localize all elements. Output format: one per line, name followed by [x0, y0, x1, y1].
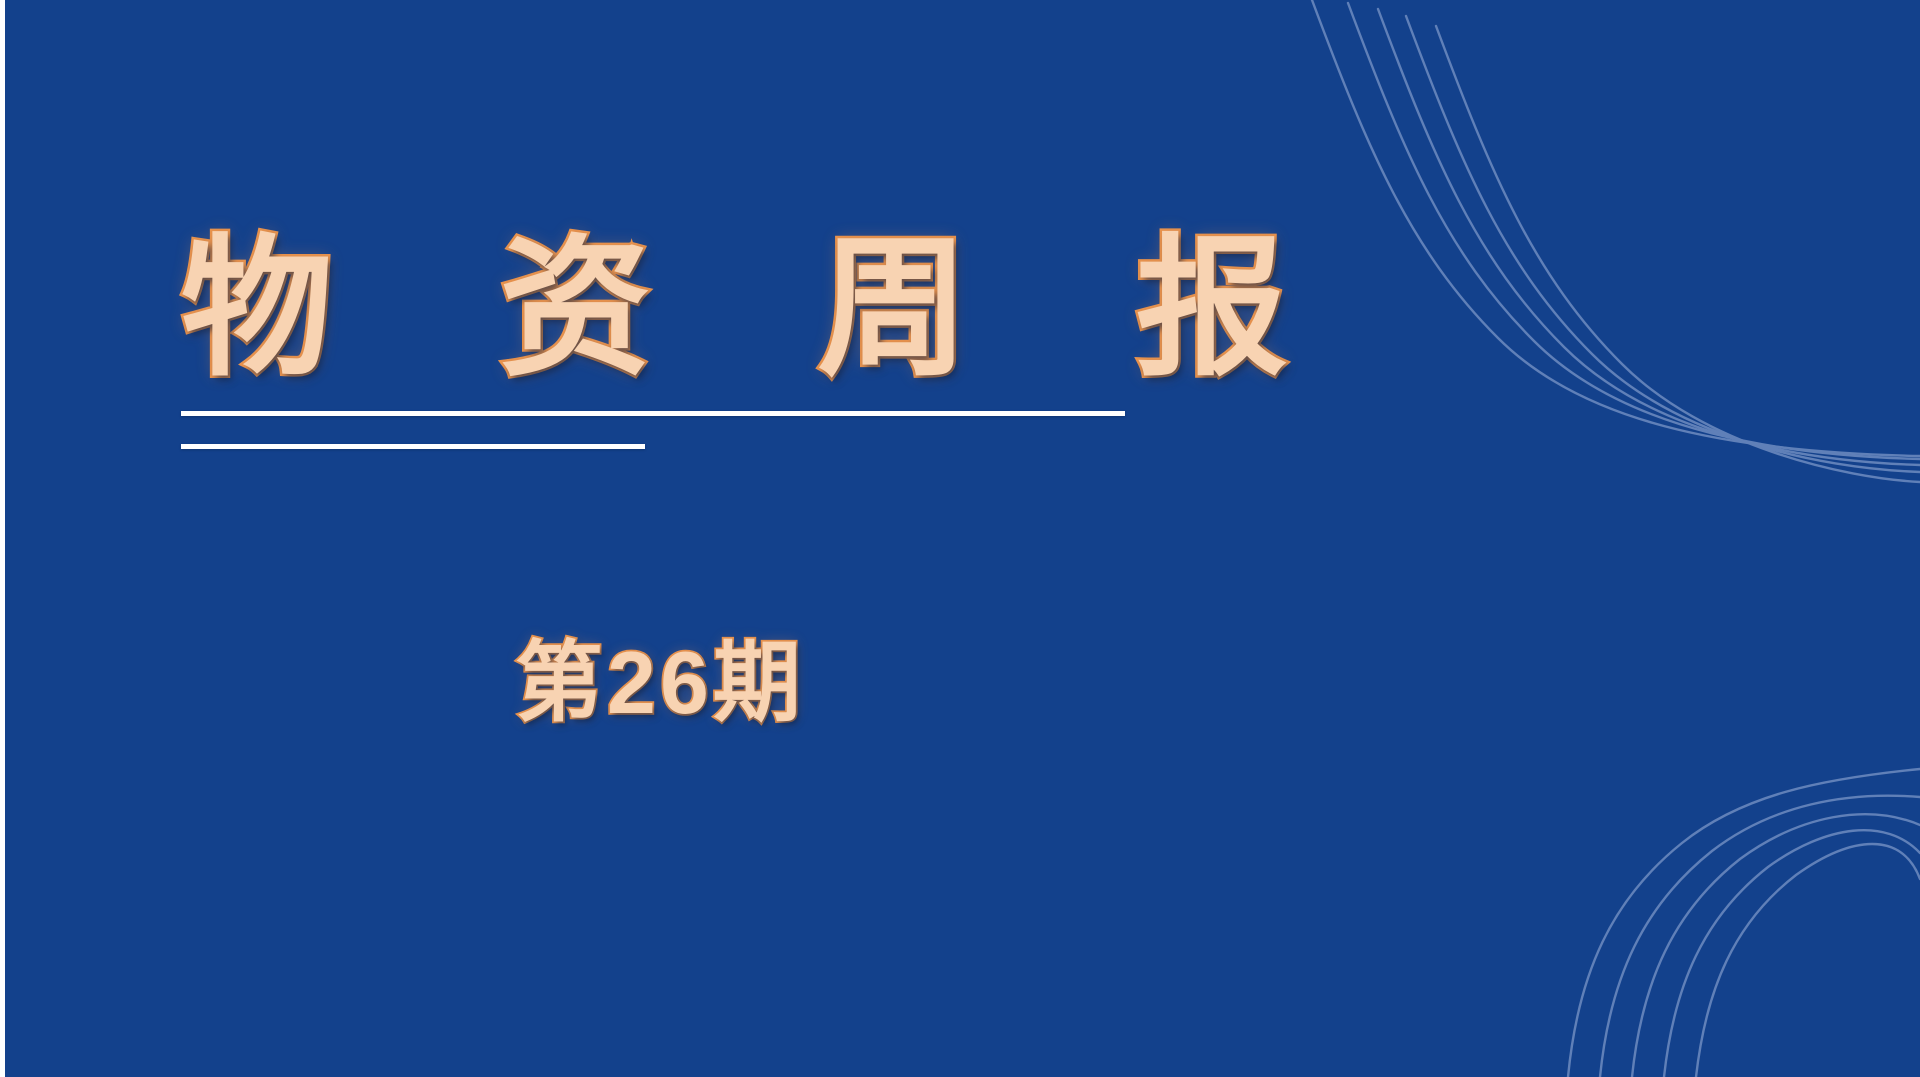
corner-waves-bottom-right-icon: [1260, 687, 1920, 1077]
issue-subtitle: 第26期: [515, 635, 805, 732]
left-edge-strip: [0, 0, 5, 1077]
title-rule-long: [181, 411, 1125, 416]
title-block: 物 资 周 报: [181, 232, 1381, 453]
title-rule-short: [181, 444, 645, 449]
title-slide: 物 资 周 报 第26期: [0, 0, 1920, 1077]
title-underline-group: [181, 411, 1381, 453]
page-title: 物 资 周 报: [181, 232, 1381, 387]
